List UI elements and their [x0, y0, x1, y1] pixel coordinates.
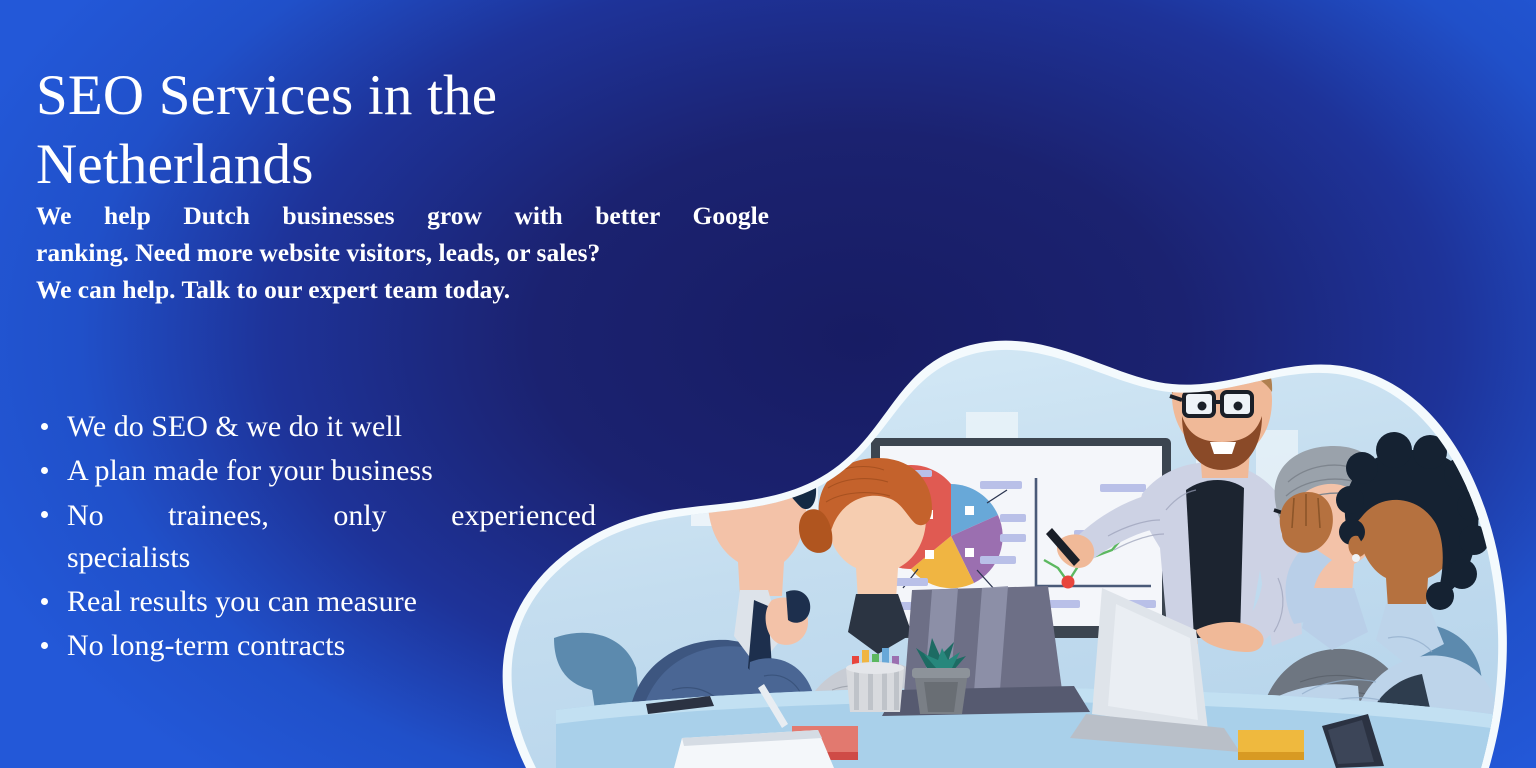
list-item-label: We do SEO & we do it well	[67, 410, 402, 443]
list-item: Real results you can measure	[36, 581, 596, 623]
list-item-label: Real results you can measure	[67, 585, 417, 618]
subheading-line-1: We help Dutch businesses grow with bette…	[36, 198, 769, 235]
page-title: SEO Services in the Netherlands	[36, 62, 766, 199]
list-item: No trainees, only experienced specialist…	[36, 495, 596, 580]
list-item-label-line-2: specialists	[67, 541, 190, 574]
list-item-label: A plan made for your business	[67, 454, 433, 487]
bullet-dot-icon	[41, 642, 48, 649]
subheading: We help Dutch businesses grow with bette…	[36, 198, 769, 309]
bullet-dot-icon	[41, 423, 48, 430]
list-item-label: No trainees, only experienced specialist…	[67, 495, 596, 580]
subheading-line-2: ranking. Need more website visitors, lea…	[36, 235, 769, 272]
list-item: No long-term contracts	[36, 625, 596, 667]
seo-services-banner: SEO Services in the Netherlands We help …	[0, 0, 1536, 768]
banner-copy-column: SEO Services in the Netherlands We help …	[36, 0, 796, 768]
pencil-cup	[846, 648, 904, 712]
benefits-list: We do SEO & we do it well A plan made fo…	[36, 406, 596, 670]
bullet-dot-icon	[41, 598, 48, 605]
list-item-label-line-1: No trainees, only experienced	[67, 495, 596, 537]
list-item-label: No long-term contracts	[67, 629, 345, 662]
subheading-line-3: We can help. Talk to our expert team tod…	[36, 272, 769, 309]
list-item: We do SEO & we do it well	[36, 406, 596, 448]
list-item: A plan made for your business	[36, 450, 596, 492]
bullet-dot-icon	[41, 467, 48, 474]
bullet-dot-icon	[41, 511, 48, 518]
sticky-note-yellow	[1238, 730, 1304, 760]
